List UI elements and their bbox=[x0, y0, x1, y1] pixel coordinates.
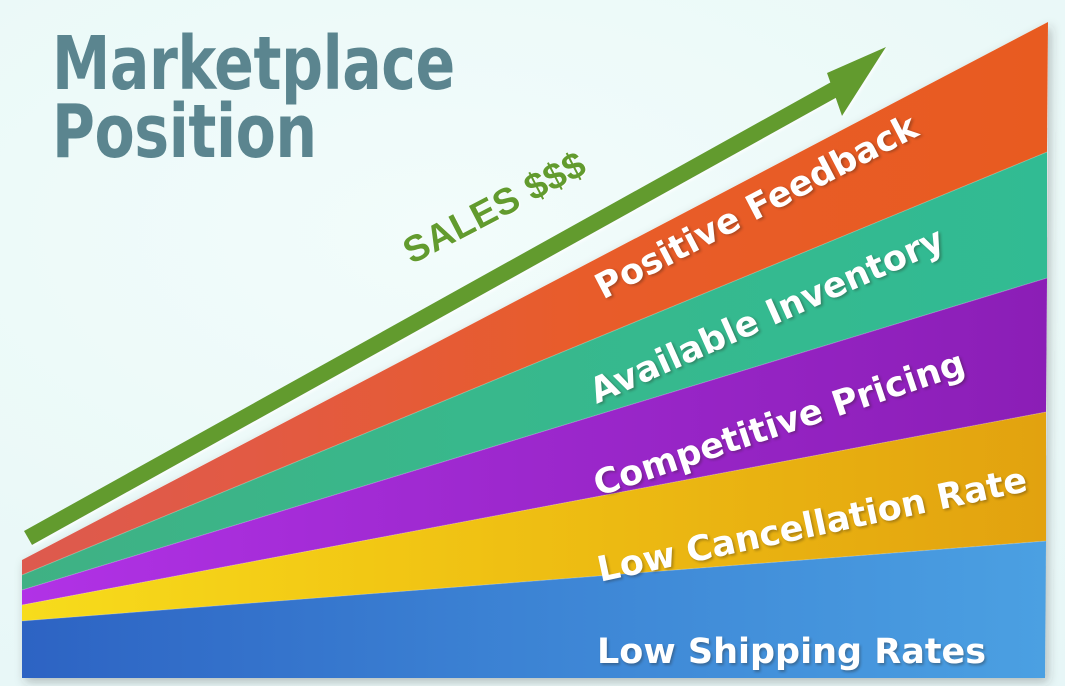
page-title: Marketplace Position bbox=[52, 30, 466, 166]
infographic-canvas: Marketplace Position SALES $$$ Positive … bbox=[0, 0, 1065, 686]
band-label-low-shipping-rates: Low Shipping Rates bbox=[597, 632, 986, 672]
